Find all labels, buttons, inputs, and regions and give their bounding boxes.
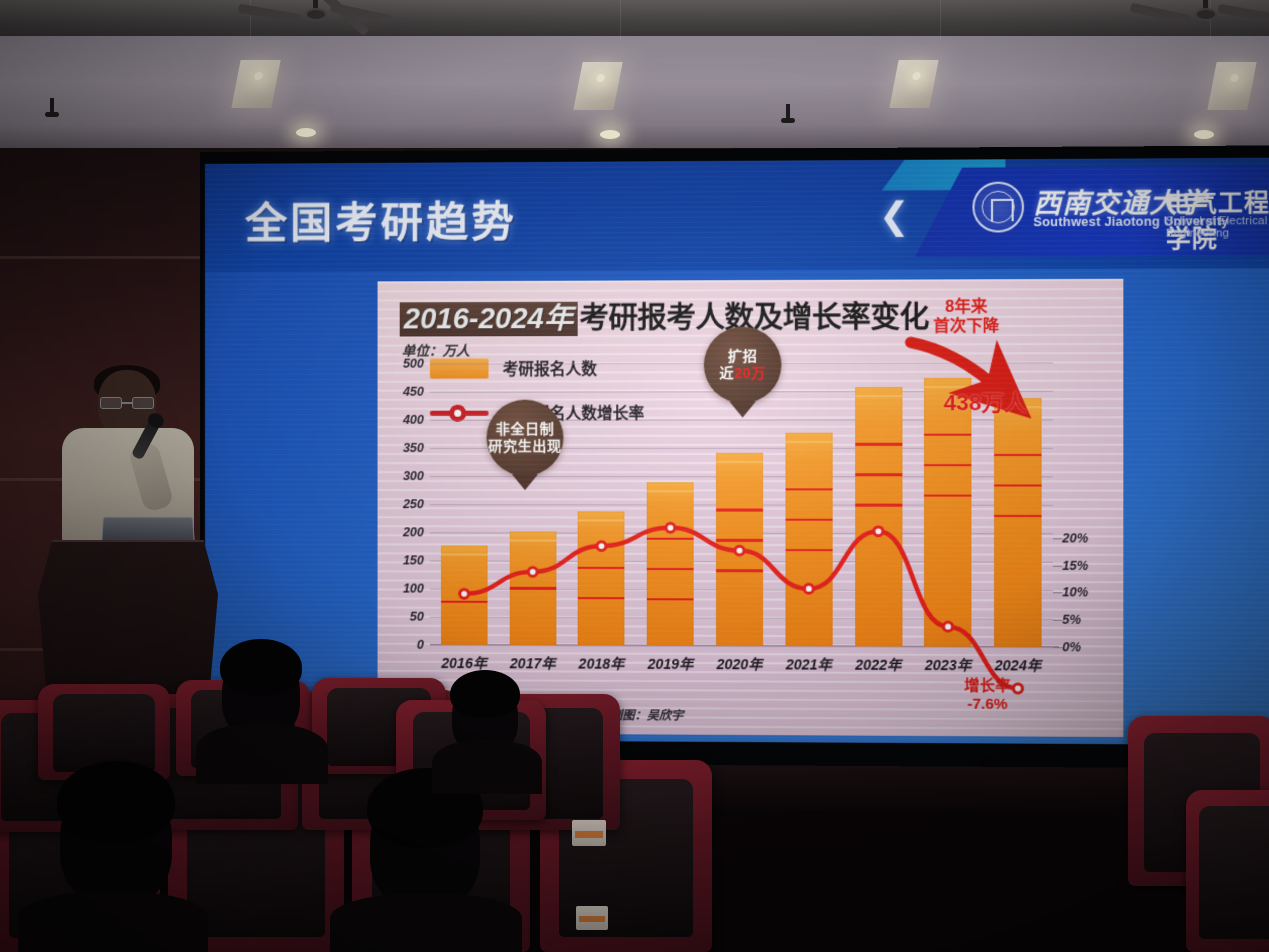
ceiling-spotlight: [600, 130, 620, 139]
line-point-2022年: [874, 527, 883, 536]
chart-title-highlight: 2016-2024年: [400, 302, 578, 337]
line-point-2021年: [804, 584, 813, 593]
line-point-2016年: [460, 589, 469, 598]
callout-line-1: 非全日制: [496, 421, 555, 438]
y-axis-tick-label: 400: [403, 413, 424, 427]
projection-screen: 全国考研趋势 ❮ 西南交通大学 Southwest Jiaotong Unive…: [200, 145, 1269, 768]
y-axis-tick-label: 150: [403, 553, 424, 567]
first-decline-note: 8年来 首次下降: [933, 297, 999, 336]
audience-member-shoulders: [196, 724, 328, 784]
y-axis-tick-label: 450: [403, 385, 424, 399]
y-axis-tick-label: 350: [403, 441, 424, 455]
y2-axis-tick-label: 5%: [1062, 613, 1081, 627]
line-point-2020年: [735, 546, 744, 555]
y2-axis-tick-label: 20%: [1062, 531, 1088, 545]
ceiling-tile-seam: [620, 0, 621, 40]
lecture-hall-photo: 全国考研趋势 ❮ 西南交通大学 Southwest Jiaotong Unive…: [0, 0, 1269, 952]
enrollment-expansion-callout: 扩招 近20万: [704, 327, 782, 404]
chevron-left-icon[interactable]: ❮: [879, 196, 906, 235]
ceiling-tile-seam: [940, 0, 941, 40]
ceiling-spotlight: [1194, 130, 1214, 139]
line-point-2017年: [528, 567, 537, 576]
audience-member-shoulders: [330, 894, 522, 952]
credit-text: 制图：吴欣宇: [610, 708, 683, 722]
final-growth-rate-note: 增长率 -7.6%: [964, 677, 1010, 714]
y2-axis-tick-label: 15%: [1062, 558, 1088, 572]
callout-line-2: 近20万: [719, 365, 766, 382]
callout-line-2: 研究生出现: [488, 438, 561, 455]
y2-axis-tick-mark: [1053, 593, 1062, 594]
callout-highlight: 20万: [734, 365, 766, 381]
audience-member-head: [370, 778, 480, 908]
line-point-2019年: [666, 523, 675, 532]
ceiling-sprinkler-icon: [786, 104, 790, 120]
y-axis-tick-label: 0: [417, 638, 424, 652]
handout-card: [576, 906, 608, 930]
rate-line-2: -7.6%: [964, 696, 1010, 715]
y-axis-tick-label: 50: [410, 610, 424, 624]
decline-line-2: 首次下降: [933, 317, 999, 336]
y-axis-tick-label: 200: [403, 525, 424, 539]
y-axis-tick-label: 300: [403, 469, 424, 483]
wall-panel-seam: [0, 256, 210, 259]
rate-line-1: 增长率: [964, 677, 1010, 695]
y-axis-tick-label: 100: [403, 582, 424, 596]
line-point-2018年: [597, 542, 606, 551]
y2-axis-tick-label: 10%: [1062, 586, 1088, 600]
glasses-icon: [100, 397, 154, 409]
final-value-badge: 438万人: [944, 385, 1027, 418]
slide-header: 全国考研趋势 ❮ 西南交通大学 Southwest Jiaotong Unive…: [205, 158, 1269, 272]
university-seal-icon: [972, 182, 1024, 233]
decline-line-1: 8年来: [933, 297, 999, 316]
y2-axis-tick-mark: [1053, 565, 1062, 566]
slide-title: 全国考研趋势: [245, 188, 517, 251]
ceiling: [0, 0, 1269, 40]
y2-axis-tick-mark: [1053, 647, 1062, 648]
line-point-2024年: [1013, 684, 1022, 693]
y2-axis-tick-label: 0%: [1062, 640, 1081, 654]
y-axis-tick-label: 250: [403, 497, 424, 511]
callout-line-1: 扩招: [728, 348, 758, 365]
handout-card: [572, 820, 606, 846]
school-name-en: School of Electrical Engineering: [1166, 215, 1269, 240]
audience-member-shoulders: [432, 740, 542, 794]
ceiling-spotlight: [296, 128, 316, 137]
presentation-slide: 全国考研趋势 ❮ 西南交通大学 Southwest Jiaotong Unive…: [205, 158, 1269, 746]
ceiling-soffit: [0, 36, 1269, 154]
audience-member-shoulders: [18, 892, 208, 952]
auditorium-seat: [1186, 790, 1269, 952]
y2-axis-tick-mark: [1053, 620, 1062, 621]
audience-member-head: [60, 772, 172, 904]
y-axis-tick-label: 500: [403, 357, 424, 371]
part-time-postgrad-callout: 非全日制 研究生出现: [487, 400, 564, 477]
ceiling-sprinkler-icon: [50, 98, 54, 114]
chart-panel: 2016-2024年考研报考人数及增长率变化 单位：万人 考研报名人数 考研报名…: [378, 279, 1124, 737]
line-point-2023年: [944, 622, 953, 631]
y2-axis-tick-mark: [1053, 538, 1062, 539]
